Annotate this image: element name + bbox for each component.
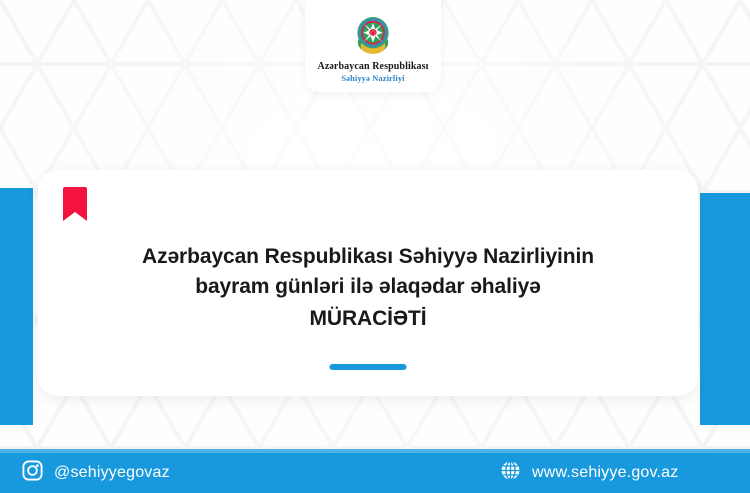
azerbaijan-state-emblem-icon [350,12,396,58]
globe-icon [500,460,521,486]
headline-line-1: Azərbaycan Respublikası Səhiyyə Nazirliy… [38,242,698,272]
ministry-logo-card: Azərbaycan Respublikası Səhiyyə Nazirliy… [305,0,441,92]
instagram-link[interactable]: @sehiyyegovaz [22,460,170,486]
right-accent-bar [700,193,750,425]
headline-line-2: bayram günləri ilə əlaqədar əhaliyə [38,272,698,302]
instagram-icon [22,460,43,486]
left-accent-bar [0,188,33,425]
bookmark-ribbon-icon [63,187,87,222]
headline-block: Azərbaycan Respublikası Səhiyyə Nazirliy… [38,242,698,333]
headline-divider [330,364,407,370]
announcement-card: Azərbaycan Respublikası Səhiyyə Nazirliy… [38,170,698,396]
instagram-handle: @sehiyyegovaz [54,464,170,482]
website-link[interactable]: www.sehiyye.gov.az [500,460,678,486]
logo-ministry-label: Səhiyyə Nazirliyi [341,73,404,83]
headline-line-3: MÜRACİƏTİ [38,304,698,334]
poster-canvas: Azərbaycan Respublikası Səhiyyə Nazirliy… [0,0,750,493]
website-url: www.sehiyye.gov.az [532,464,678,482]
footer-bar: @sehiyyegovaz www.sehiy [0,453,750,493]
logo-republic-label: Azərbaycan Respublikası [318,61,429,73]
